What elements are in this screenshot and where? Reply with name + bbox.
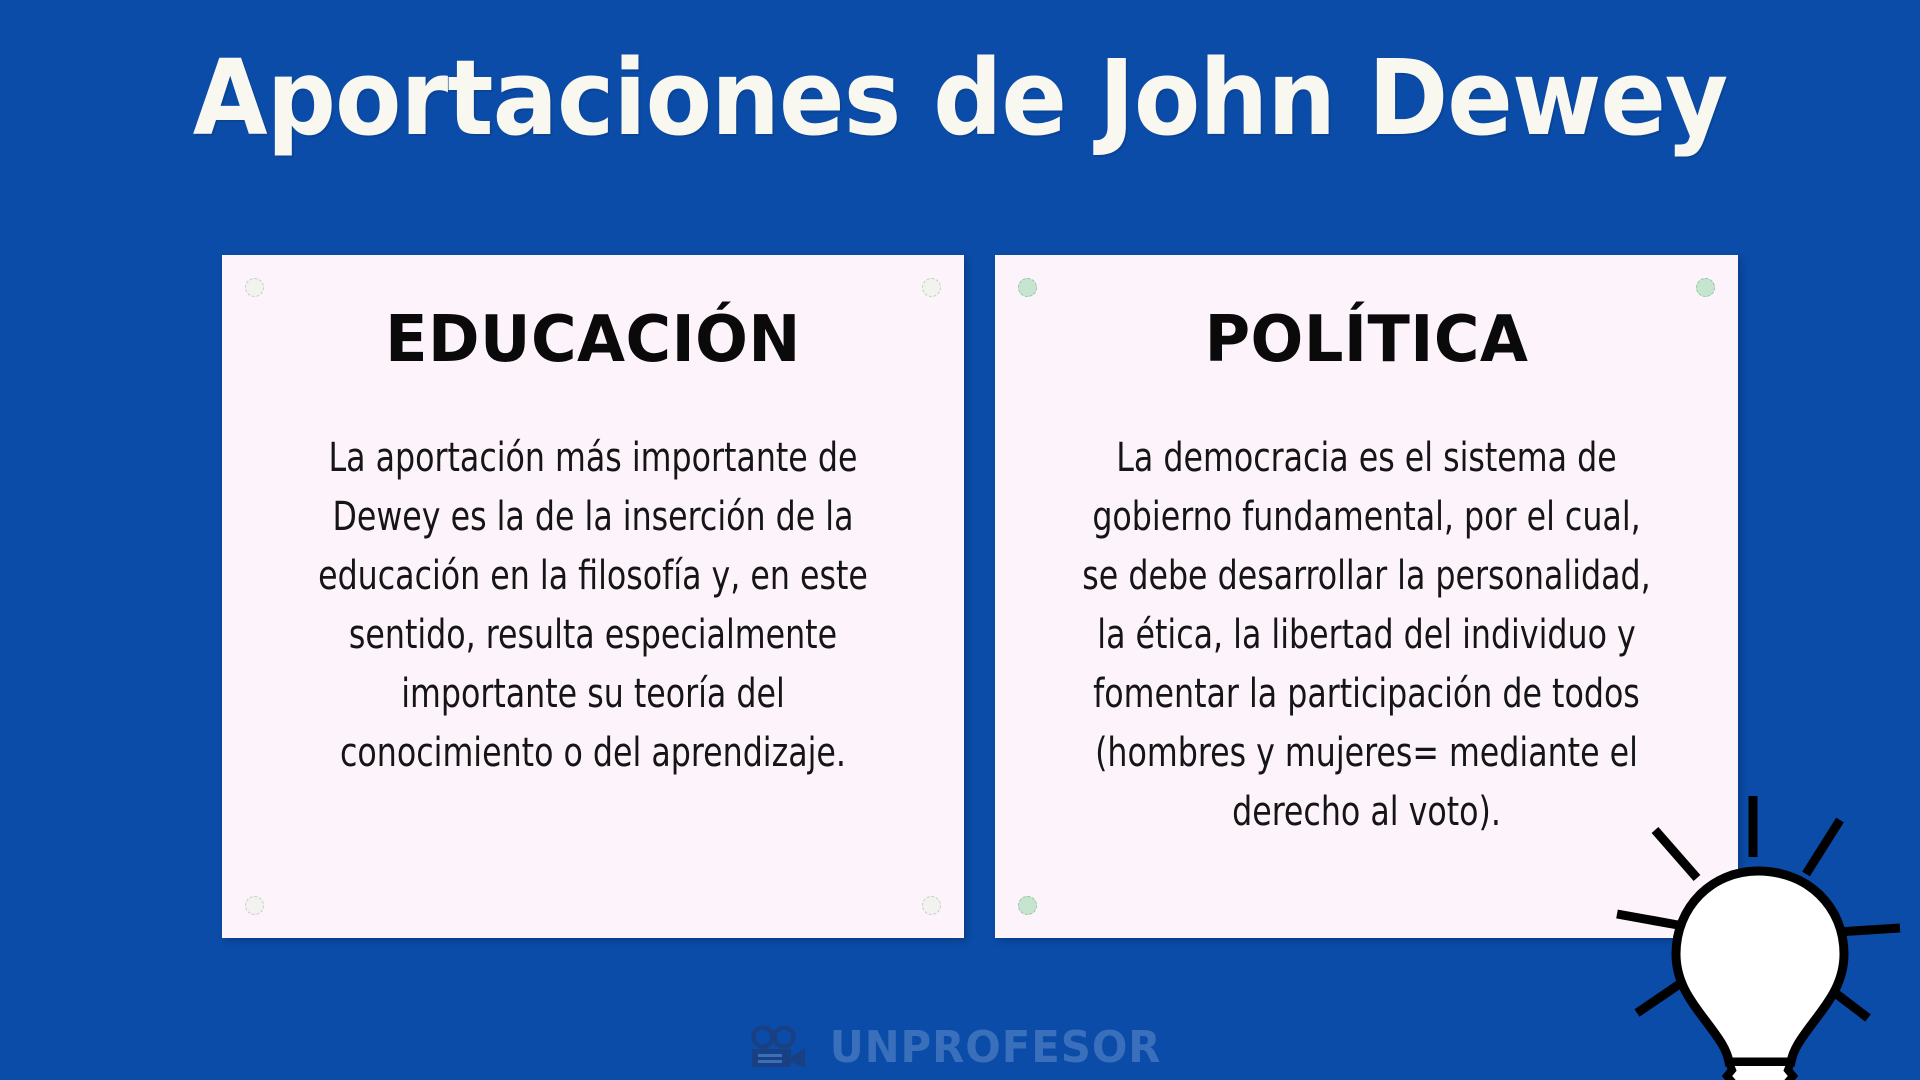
card-educacion-heading: EDUCACIÓN (270, 303, 916, 377)
page-title: Aportaciones de John Dewey (67, 38, 1853, 158)
card-politica-content: POLÍTICA La democracia es el sistema de … (995, 255, 1738, 938)
card-educacion-body: La aportación más importante de Dewey es… (300, 429, 886, 783)
watermark-logo: UNPROFESOR (0, 1024, 1920, 1072)
card-politica-heading: POLÍTICA (1043, 303, 1690, 377)
card-educacion: EDUCACIÓN La aportación más importante d… (222, 255, 964, 938)
watermark-text: UNPROFESOR (830, 1024, 1162, 1072)
slide-canvas: Aportaciones de John Dewey EDUCACIÓN La … (0, 0, 1920, 1080)
ray-top-right (1806, 820, 1840, 874)
ray-bottom-left (1637, 979, 1687, 1013)
ray-right (1837, 928, 1900, 932)
card-politica-body: La democracia es el sistema de gobierno … (1073, 429, 1660, 842)
ray-bottom-right (1826, 986, 1868, 1018)
card-educacion-content: EDUCACIÓN La aportación más importante d… (222, 255, 964, 938)
card-politica: POLÍTICA La democracia es el sistema de … (995, 255, 1738, 938)
film-camera-icon (749, 1026, 807, 1070)
